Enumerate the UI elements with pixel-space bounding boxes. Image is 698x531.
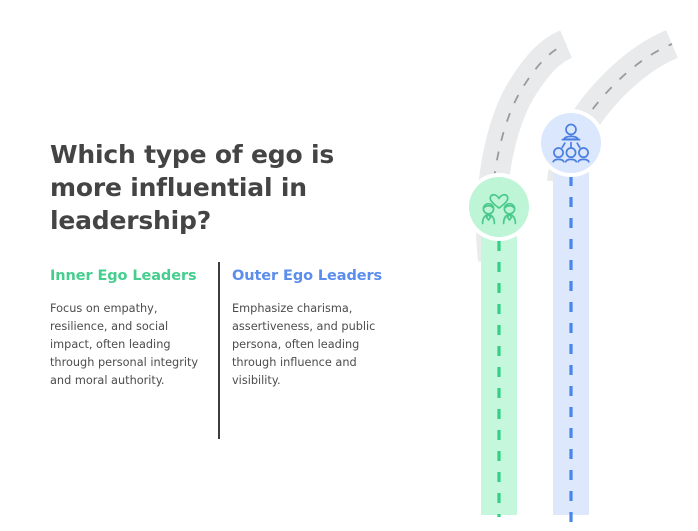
column-body-outer-ego: Emphasize charisma, assertiveness, and p… xyxy=(232,300,400,390)
column-outer-ego: Outer Ego Leaders Emphasize charisma, as… xyxy=(205,266,400,390)
inner-ego-bar xyxy=(481,210,517,515)
comparison-columns: Inner Ego Leaders Focus on empathy, resi… xyxy=(50,266,410,390)
slide-canvas: Which type of ego is more influential in… xyxy=(0,0,698,531)
column-divider xyxy=(218,262,220,439)
two-paths-graphic xyxy=(440,0,698,531)
column-heading-inner-ego: Inner Ego Leaders xyxy=(50,266,205,287)
outer-ego-track xyxy=(537,109,605,526)
column-heading-outer-ego: Outer Ego Leaders xyxy=(232,266,400,287)
column-inner-ego: Inner Ego Leaders Focus on empathy, resi… xyxy=(50,266,205,390)
page-title: Which type of ego is more influential in… xyxy=(50,138,380,237)
column-body-inner-ego: Focus on empathy, resilience, and social… xyxy=(50,300,205,390)
